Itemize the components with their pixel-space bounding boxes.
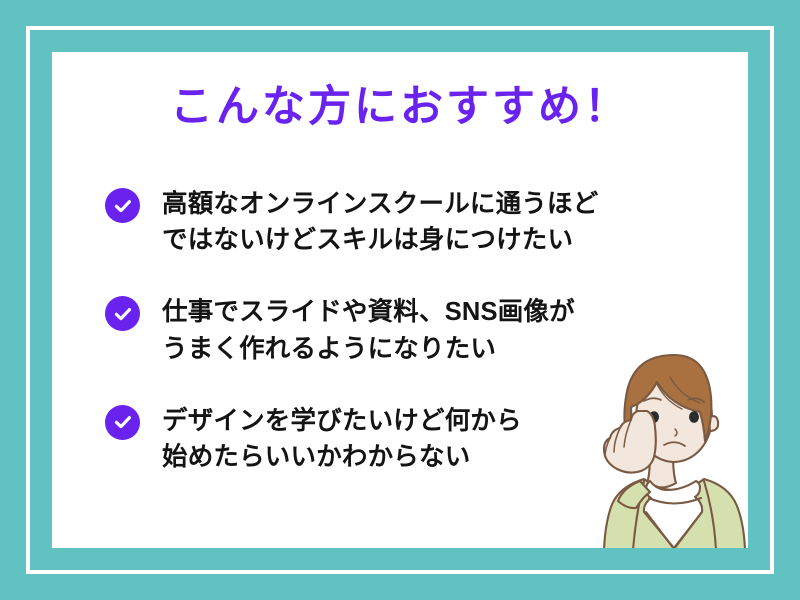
page-title: こんな方におすすめ！: [52, 84, 748, 131]
slide-canvas: こんな方におすすめ！ 高額なオンラインスクールに通うほど ではないけどスキルは身…: [0, 0, 800, 600]
content-card: こんな方におすすめ！ 高額なオンラインスクールに通うほど ではないけどスキルは身…: [52, 52, 748, 548]
list-item-label: デザインを学びたいけど何から 始めたらいいかわからない: [162, 403, 522, 475]
list-item: 高額なオンラインスクールに通うほど ではないけどスキルは身につけたい: [105, 186, 728, 258]
list-item-line: 仕事でスライドや資料、SNS画像が: [162, 294, 575, 330]
check-circle-icon: [105, 296, 140, 331]
list-item-line: 高額なオンラインスクールに通うほど: [162, 186, 598, 222]
list-item-line: 始めたらいいかわからない: [162, 439, 522, 475]
check-circle-icon: [105, 188, 140, 223]
check-circle-icon: [105, 405, 140, 440]
list-item-label: 高額なオンラインスクールに通うほど ではないけどスキルは身につけたい: [162, 186, 598, 258]
list-item: 仕事でスライドや資料、SNS画像が うまく作れるようになりたい: [105, 294, 728, 366]
list-item: デザインを学びたいけど何から 始めたらいいかわからない: [105, 403, 728, 475]
list-item-line: うまく作れるようになりたい: [162, 331, 575, 367]
list-item-line: ではないけどスキルは身につけたい: [162, 222, 598, 258]
benefits-list: 高額なオンラインスクールに通うほど ではないけどスキルは身につけたい 仕事でスラ…: [105, 186, 728, 475]
list-item-label: 仕事でスライドや資料、SNS画像が うまく作れるようになりたい: [162, 294, 575, 366]
list-item-line: デザインを学びたいけど何から: [162, 403, 522, 439]
